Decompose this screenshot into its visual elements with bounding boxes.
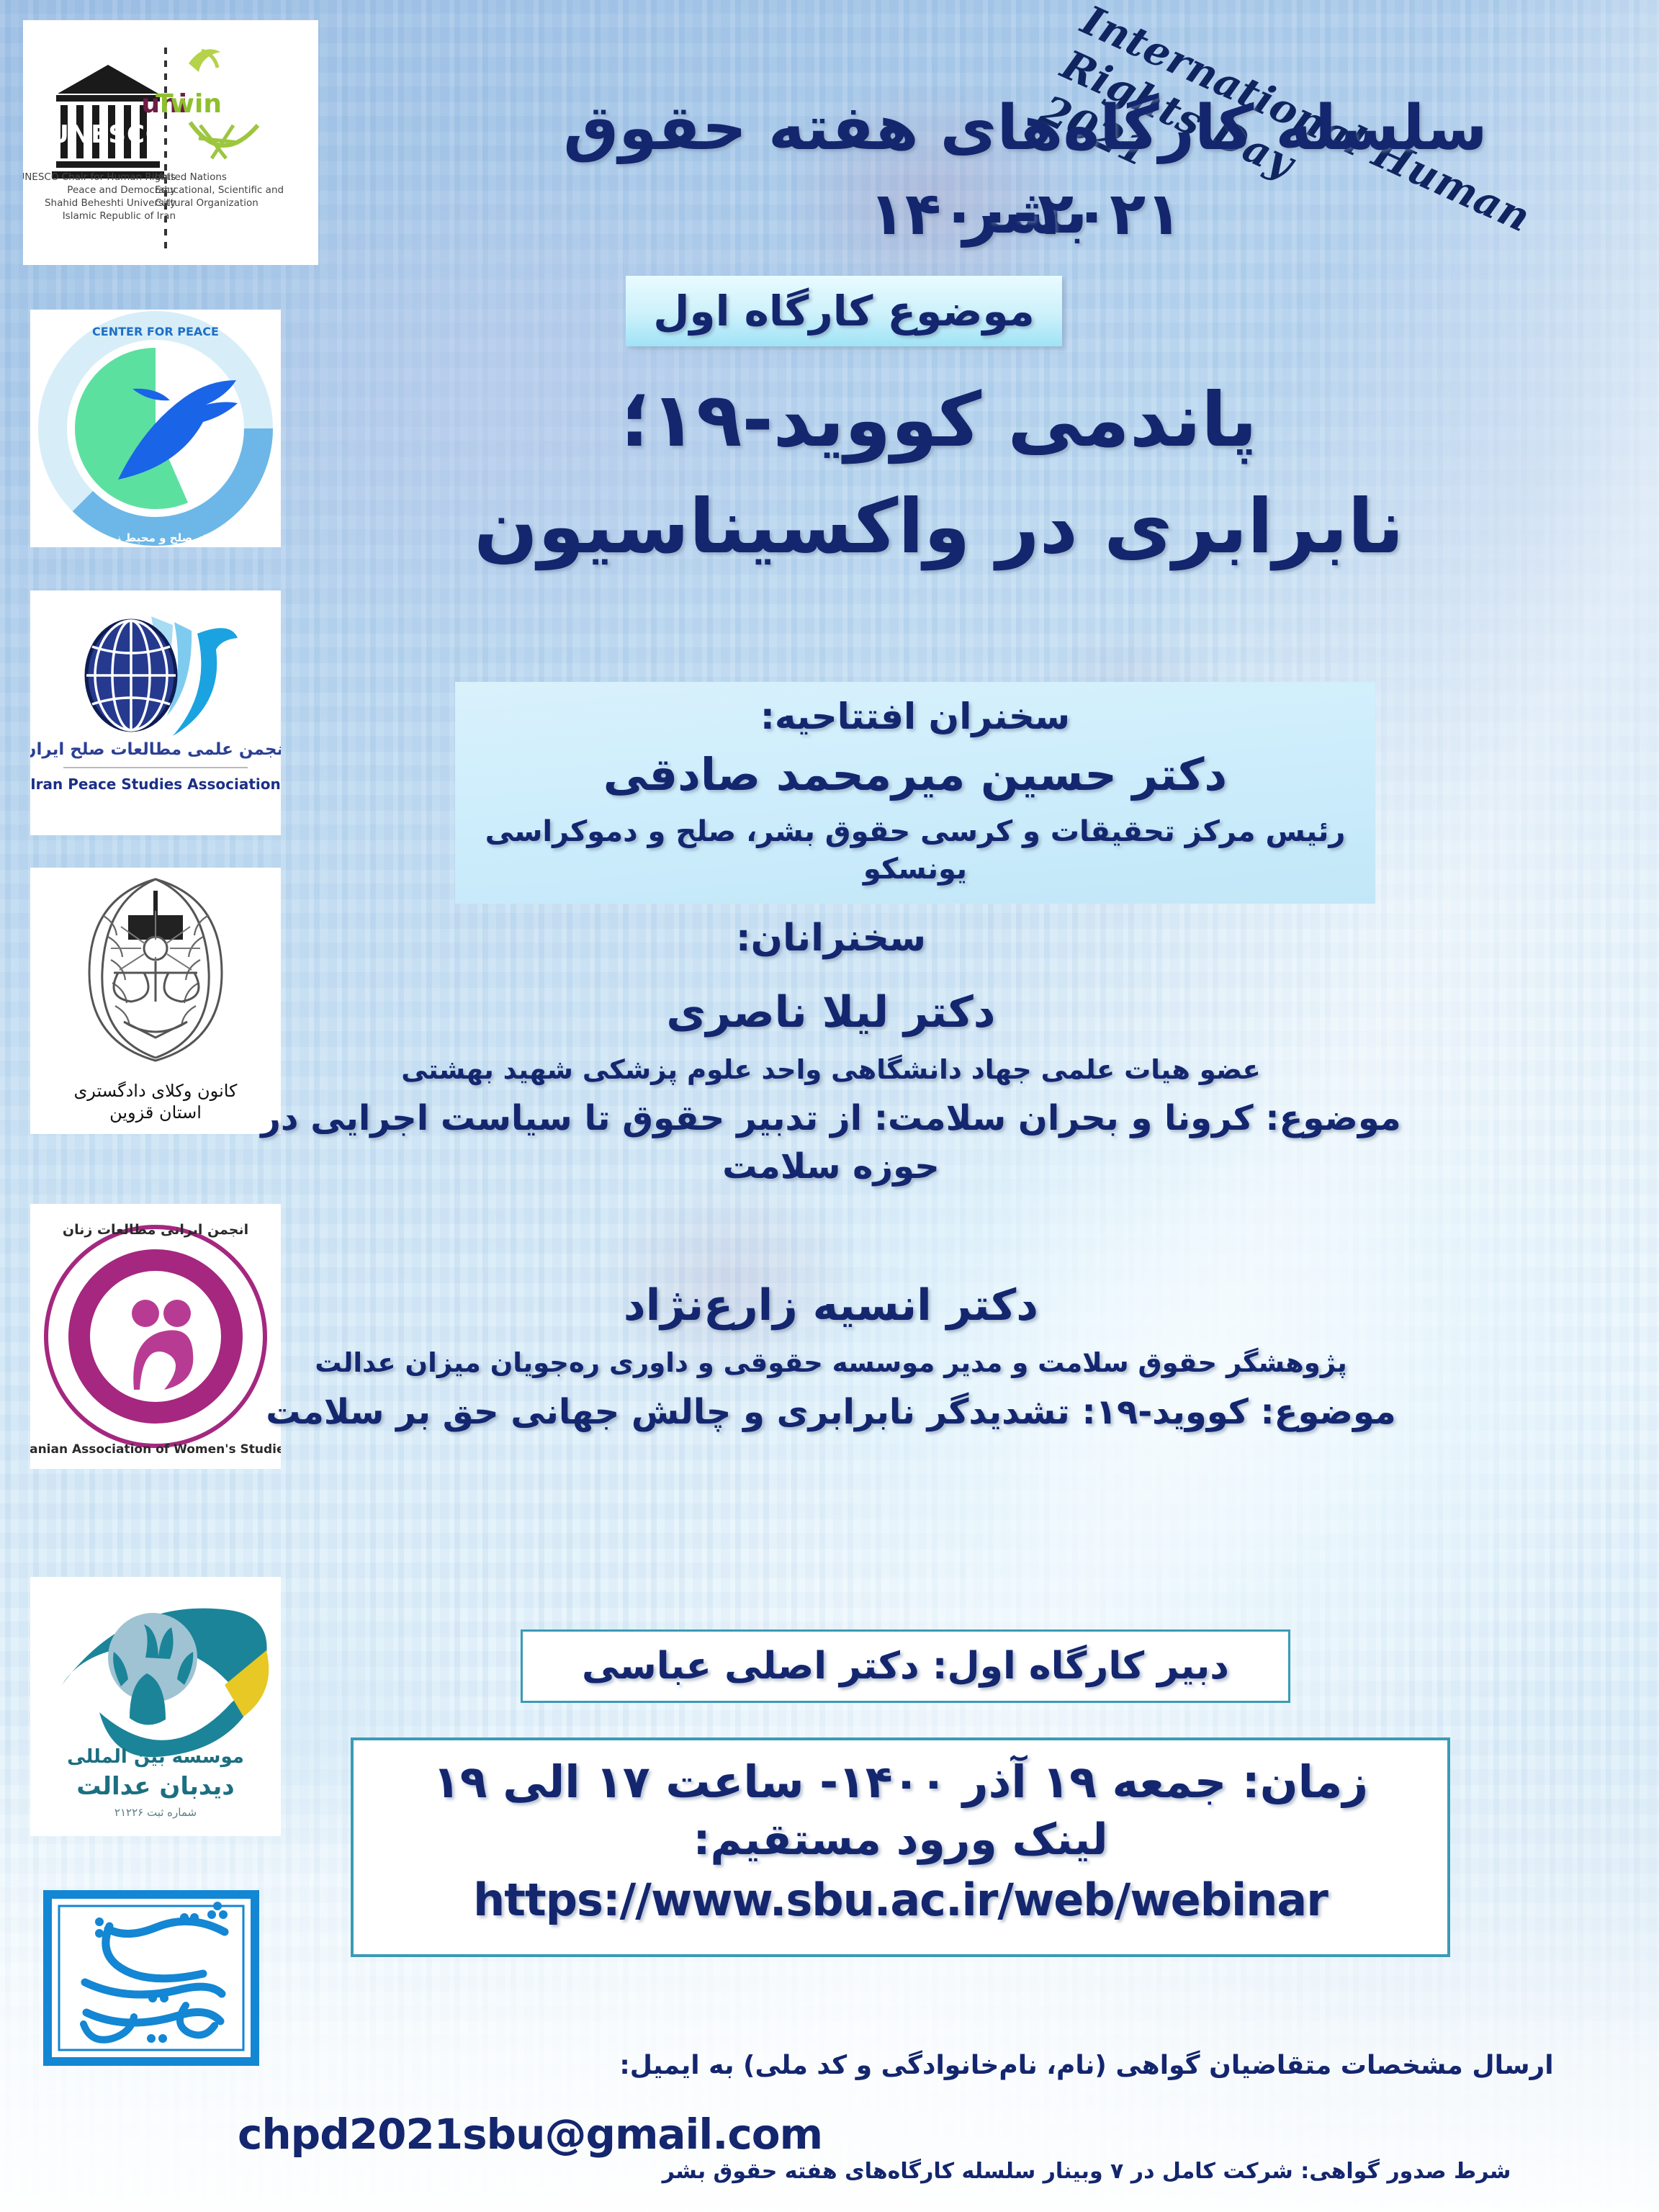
logo-iran-peace-studies: انجمن علمی مطالعات صلح ایران Iran Peace … (30, 590, 281, 835)
svg-text:Shahid Beheshti University: Shahid Beheshti University (45, 197, 176, 209)
svg-text:کانون وکلای دادگستری: کانون وکلای دادگستری (74, 1081, 238, 1101)
svg-text:Iran Peace Studies Association: Iran Peace Studies Association (30, 775, 281, 793)
opening-speaker-panel: سخنران افتتاحیه: دکتر حسین میرمحمد صادقی… (455, 682, 1375, 904)
unesco-unitwin-icon: UNESCO uni Twin United Nations (23, 20, 318, 265)
svg-text:استان قزوین: استان قزوین (109, 1102, 202, 1123)
logo-justice-watch-institute: موسسه بین المللی دیدبان عدالت شماره ثبت … (30, 1577, 281, 1836)
workshop-topic-chip: موضوع کارگاه اول (626, 276, 1062, 346)
speaker-name: دکتر لیلا ناصری (219, 982, 1443, 1043)
direct-link-label: لینک ورود مستقیم: (382, 1812, 1419, 1868)
svg-text:CENTER FOR PEACE: CENTER FOR PEACE (92, 325, 219, 338)
svg-text:شماره ثبت ۲۱۲۲۶: شماره ثبت ۲۱۲۲۶ (114, 1806, 197, 1819)
series-years: ۱۴۰۰-۲۰۲۱ (507, 180, 1544, 248)
opening-speaker-label: سخنران افتتاحیه: (455, 693, 1375, 739)
eye-globe-hands-icon: موسسه بین المللی دیدبان عدالت شماره ثبت … (30, 1577, 281, 1836)
svg-text:مرکز صلح و محیط زیست: مرکز صلح و محیط زیست (89, 531, 222, 544)
logo-shahid-beheshti-university (43, 1890, 259, 2099)
speaker-topic: موضوع: کرونا و بحران سلامت: از تدبیر حقو… (219, 1094, 1443, 1190)
logo-center-peace-environment: CENTER FOR PEACE مرکز صلح و محیط زیست (30, 310, 281, 547)
speaker-entry: دکتر لیلا ناصری عضو هیات علمی جهاد دانشگ… (219, 982, 1443, 1190)
speaker-entry: دکتر انسیه زارع‌نژاد پژوهشگر حقوق سلامت … (219, 1275, 1443, 1436)
opening-speaker-name: دکتر حسین میرمحمد صادقی (455, 744, 1375, 806)
speaker-affiliation: عضو هیات علمی جهاد دانشگاهی واحد علوم پز… (219, 1053, 1443, 1088)
speaker-name: دکتر انسیه زارع‌نژاد (219, 1275, 1443, 1336)
svg-text:انجمن علمی مطالعات صلح ایران: انجمن علمی مطالعات صلح ایران (30, 740, 281, 759)
svg-text:Islamic Republic of Iran: Islamic Republic of Iran (63, 210, 176, 222)
svg-text:UNESCO Chair for Human Rights,: UNESCO Chair for Human Rights, (23, 171, 176, 183)
datetime-and-link-box: زمان: جمعه ۱۹ آذر ۱۴۰۰- ساعت ۱۷ الی ۱۹ ل… (351, 1737, 1450, 1957)
contact-email[interactable]: chpd2021sbu@gmail.com (238, 2110, 742, 2159)
logo-unesco-unitwin: UNESCO uni Twin United Nations (23, 20, 318, 265)
svg-text:Twin: Twin (156, 89, 222, 119)
workshop-topic-chip-label: موضوع کارگاه اول (653, 287, 1035, 336)
svg-text:UNESCO: UNESCO (49, 120, 167, 149)
event-datetime: زمان: جمعه ۱۹ آذر ۱۴۰۰- ساعت ۱۷ الی ۱۹ (382, 1753, 1419, 1812)
peace-dove-globe-icon: CENTER FOR PEACE مرکز صلح و محیط زیست (30, 310, 281, 547)
page-title: پاندمی کووید-۱۹؛ نابرابری در واکسیناسیون (435, 367, 1443, 580)
speakers-section: سخنرانان: دکتر لیلا ناصری عضو هیات علمی … (219, 914, 1443, 1436)
page-title-line-2: نابرابری در واکسیناسیون (435, 474, 1443, 580)
svg-text:Iranian Association of Women's: Iranian Association of Women's Studies (30, 1442, 281, 1457)
speakers-spacer (219, 1190, 1443, 1256)
svg-text:موسسه بین المللی: موسسه بین المللی (67, 1746, 244, 1768)
svg-text:دیدبان عدالت: دیدبان عدالت (76, 1772, 235, 1801)
workshop-secretary-label: دبیر کارگاه اول: دکتر اصلی عباسی (582, 1645, 1229, 1688)
speakers-heading: سخنرانان: (219, 914, 1443, 963)
speaker-affiliation: پژوهشگر حقوق سلامت و مدیر موسسه حقوقی و … (219, 1346, 1443, 1381)
certificate-condition-note: شرط صدور گواهی: شرکت کامل در ۷ وبینار سل… (608, 2159, 1565, 2184)
sbu-seal-icon (43, 1890, 259, 2099)
workshop-secretary-box: دبیر کارگاه اول: دکتر اصلی عباسی (521, 1629, 1290, 1703)
opening-speaker-affiliation: رئیس مرکز تحقیقات و کرسی حقوق بشر، صلح و… (455, 813, 1375, 888)
globe-dove-icon: انجمن علمی مطالعات صلح ایران Iran Peace … (30, 590, 281, 835)
speaker-topic: موضوع: کووید-۱۹: تشدیدگر نابرابری و چالش… (219, 1388, 1443, 1436)
webinar-link[interactable]: https://www.sbu.ac.ir/web/webinar (382, 1872, 1419, 1928)
svg-text:Peace and Democracy: Peace and Democracy (67, 184, 176, 196)
page-title-line-1: پاندمی کووید-۱۹؛ (435, 367, 1443, 474)
certificate-request-note: ارسال مشخصات متقاضیان گواهی (نام، نام‌خا… (608, 2051, 1565, 2080)
